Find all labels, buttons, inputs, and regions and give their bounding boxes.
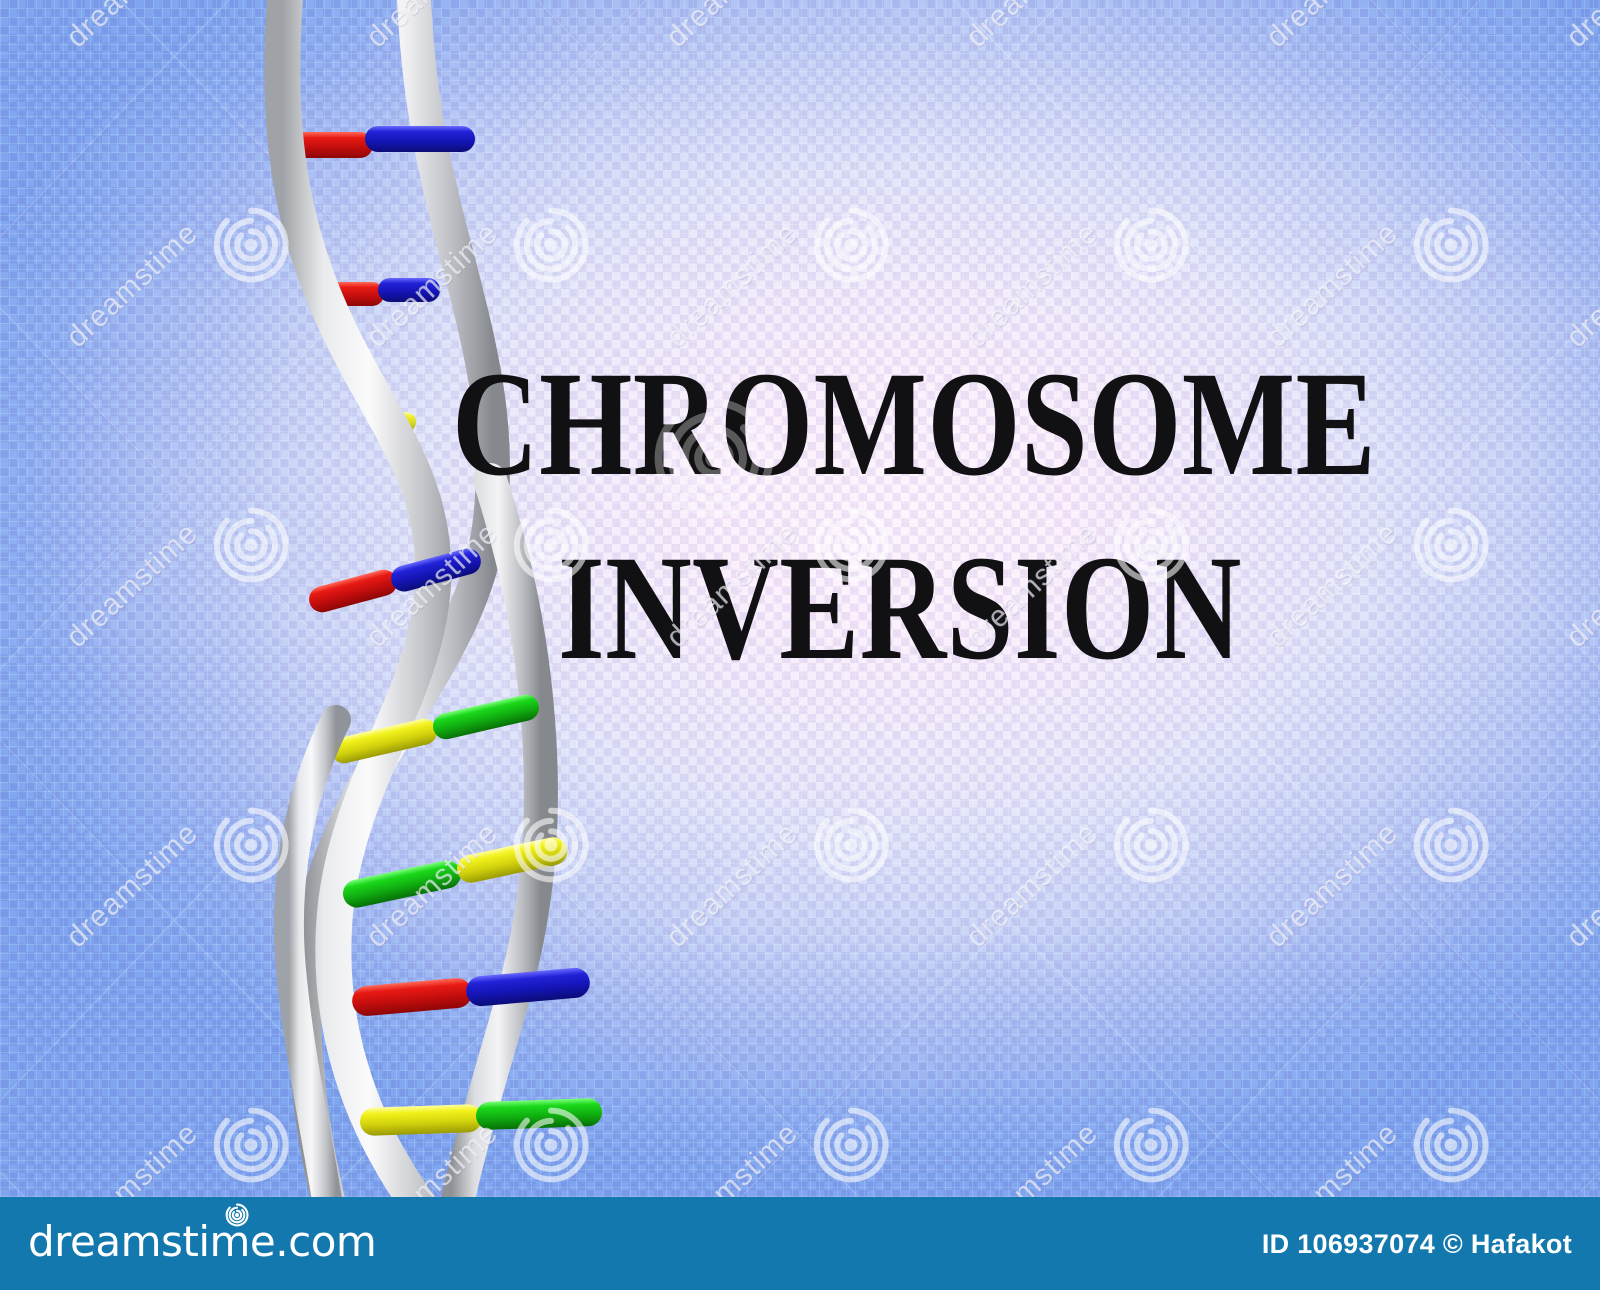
- brand-wordmark: dreamstime.com: [28, 1221, 376, 1263]
- base-pair-rung: [351, 967, 591, 1018]
- page-title: CHROMOSOME INVERSION: [430, 352, 1550, 680]
- photo-area: CHROMOSOME INVERSION dreamstimedreamstim…: [0, 0, 1600, 1197]
- dreamstime-spiral-logo-icon: [224, 1202, 250, 1228]
- image-credit: ID 106937074 © Hafakot: [1262, 1229, 1572, 1260]
- dreamstime-brand[interactable]: dreamstime.com: [28, 1216, 376, 1268]
- title-line-1: CHROMOSOME: [452, 352, 1330, 496]
- stock-photo-canvas: CHROMOSOME INVERSION dreamstimedreamstim…: [0, 0, 1600, 1290]
- title-line-2: INVERSION: [558, 536, 1352, 680]
